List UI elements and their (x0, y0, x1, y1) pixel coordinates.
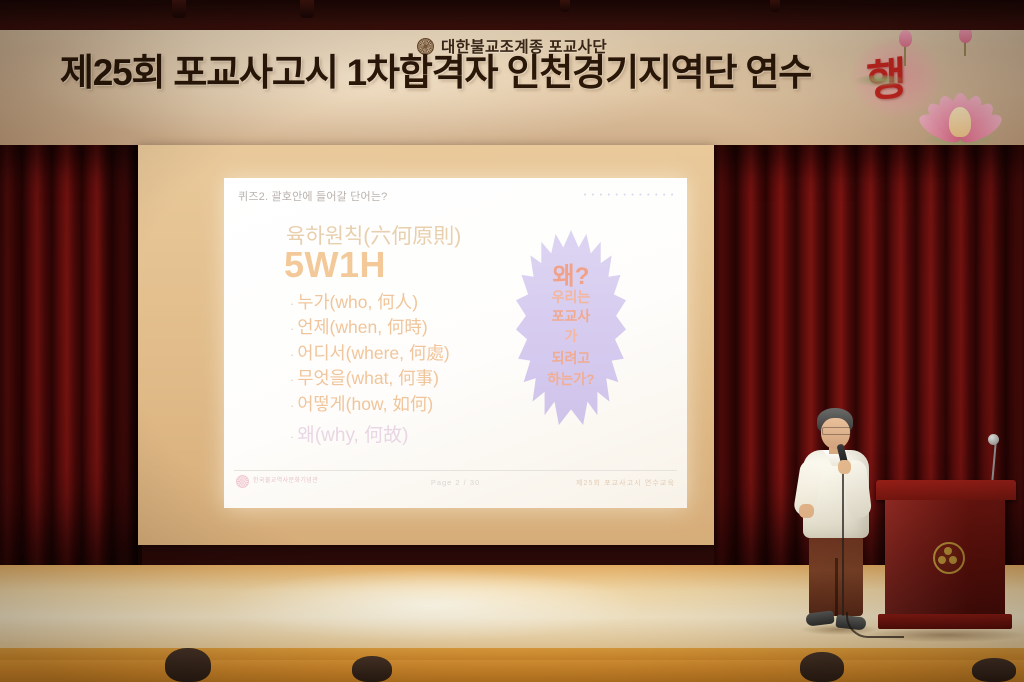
bullet-icon: · (290, 372, 294, 387)
starburst-callout: 왜? 우리는 포교사 가 되려고 하는가? (516, 230, 626, 425)
samtaeguk-dot (944, 547, 952, 555)
audience-head (972, 658, 1016, 682)
ceiling-fixture-icon (172, 0, 186, 18)
starburst-line5: 하는가? (516, 369, 626, 389)
projection-screen-frame: 퀴즈2. 괄호안에 들어갈 단어는? • • • • • • • • • • •… (138, 145, 714, 545)
list-item-label: 언제(when, 何時) (297, 317, 427, 337)
speaker-pants-seam (835, 558, 838, 616)
bullet-icon: · (290, 296, 294, 311)
starburst-line1: 우리는 (516, 287, 626, 307)
curtain-shadow (100, 145, 142, 565)
slide-quiz-line: 퀴즈2. 괄호안에 들어갈 단어는? (238, 188, 388, 204)
starburst-line4: 되려고 (516, 348, 626, 368)
speaker-hand-right (838, 460, 851, 474)
list-item-label: 무엇을(what, 何事) (297, 368, 439, 388)
slide-footer-note: 제25회 포교사고시 연수교육 (576, 478, 675, 488)
samtaeguk-dot (938, 556, 946, 564)
bullet-icon: · (290, 429, 294, 444)
lotus-flower-icon (912, 83, 1008, 145)
podium-top-surface (876, 480, 1016, 500)
audience-head (352, 656, 392, 682)
banner-title: 제25회 포교사고시 1차합격자 인천경기지역단 연수 (8, 54, 863, 93)
bullet-icon: · (290, 398, 294, 413)
lotus-core (949, 107, 971, 137)
slide-corner-note: • • • • • • • • • • • • (584, 190, 675, 199)
gooseneck-microphone-icon (988, 434, 999, 445)
lotus-bud-icon (959, 30, 972, 43)
podium-body (885, 500, 1005, 614)
ceiling-fixture-icon (770, 0, 780, 12)
lotus-pad (854, 75, 906, 87)
list-item-label: 왜(why, 何故) (297, 425, 408, 446)
ceiling-fixture-icon (300, 0, 314, 18)
bullet-icon: · (290, 321, 294, 336)
list-item-label: 어떻게(how, 如何) (297, 394, 433, 414)
slide-heading-english: 5W1H (284, 244, 386, 286)
list-item-label: 누가(who, 何人) (297, 292, 418, 312)
lotus-bud-icon (899, 30, 912, 47)
event-banner: 대한불교조계종 포교사단 제25회 포교사고시 1차합격자 인천경기지역단 연수… (0, 30, 1024, 145)
list-item: ·어디서(where, 何處) (290, 341, 450, 366)
bullet-icon: · (290, 347, 294, 362)
three-circle-samtaeguk-icon (933, 542, 965, 574)
floor-cable (846, 612, 904, 638)
speaker-hand-left (799, 504, 814, 518)
ceiling (0, 0, 1024, 34)
glasses-icon (822, 427, 851, 435)
microphone-cable (842, 466, 844, 616)
starburst-line3: 가 (516, 326, 626, 346)
samtaeguk-dot (949, 556, 957, 564)
audience-head (165, 648, 211, 682)
ceiling-fixture-icon (560, 0, 570, 12)
list-item: ·왜(why, 何故) (290, 422, 450, 450)
speaker (795, 408, 879, 636)
projection-screen: 퀴즈2. 괄호안에 들어갈 단어는? • • • • • • • • • • •… (224, 178, 687, 508)
list-item: ·누가(who, 何人) (290, 290, 450, 315)
list-item: ·어떻게(how, 如何) (290, 392, 450, 417)
audience-head (800, 652, 844, 682)
auditorium-photo: 대한불교조계종 포교사단 제25회 포교사고시 1차합격자 인천경기지역단 연수… (0, 0, 1024, 682)
slide-footer-divider (234, 470, 677, 471)
list-item: ·언제(when, 何時) (290, 315, 450, 340)
list-item: ·무엇을(what, 何事) (290, 366, 450, 391)
slide-bullet-list: ·누가(who, 何人) ·언제(when, 何時) ·어디서(where, 何… (290, 290, 450, 449)
starburst-why: 왜? (516, 256, 626, 291)
banner-lotus-art: 행 (844, 30, 1024, 145)
audience-area (0, 660, 1024, 682)
list-item-label: 어디서(where, 何處) (297, 343, 449, 363)
starburst-line2: 포교사 (516, 306, 626, 326)
